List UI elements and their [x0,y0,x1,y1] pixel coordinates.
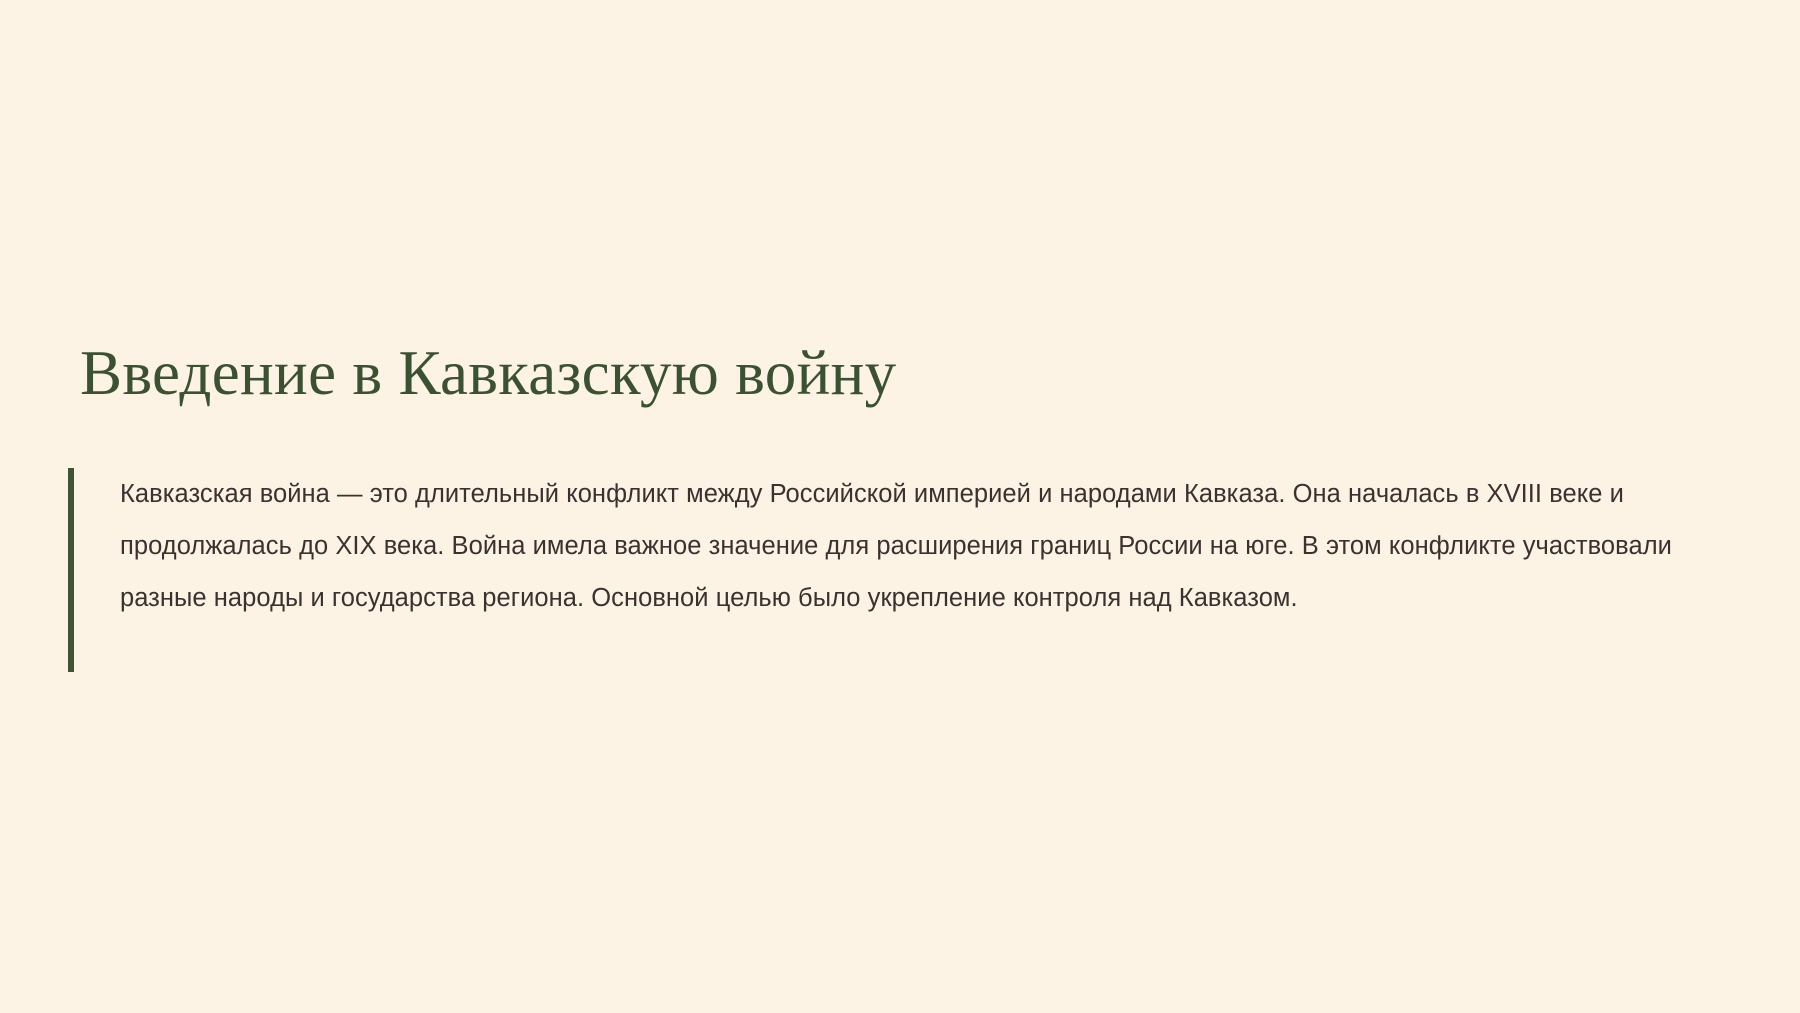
body-paragraph: Кавказская война — это длительный конфли… [74,468,1728,672]
slide-content: Введение в Кавказскую войну Кавказская в… [0,0,1800,1013]
body-block: Кавказская война — это длительный конфли… [68,468,1728,672]
presentation-slide: Введение в Кавказскую войну Кавказская в… [0,0,1800,1013]
page-title: Введение в Кавказскую войну [80,338,896,409]
